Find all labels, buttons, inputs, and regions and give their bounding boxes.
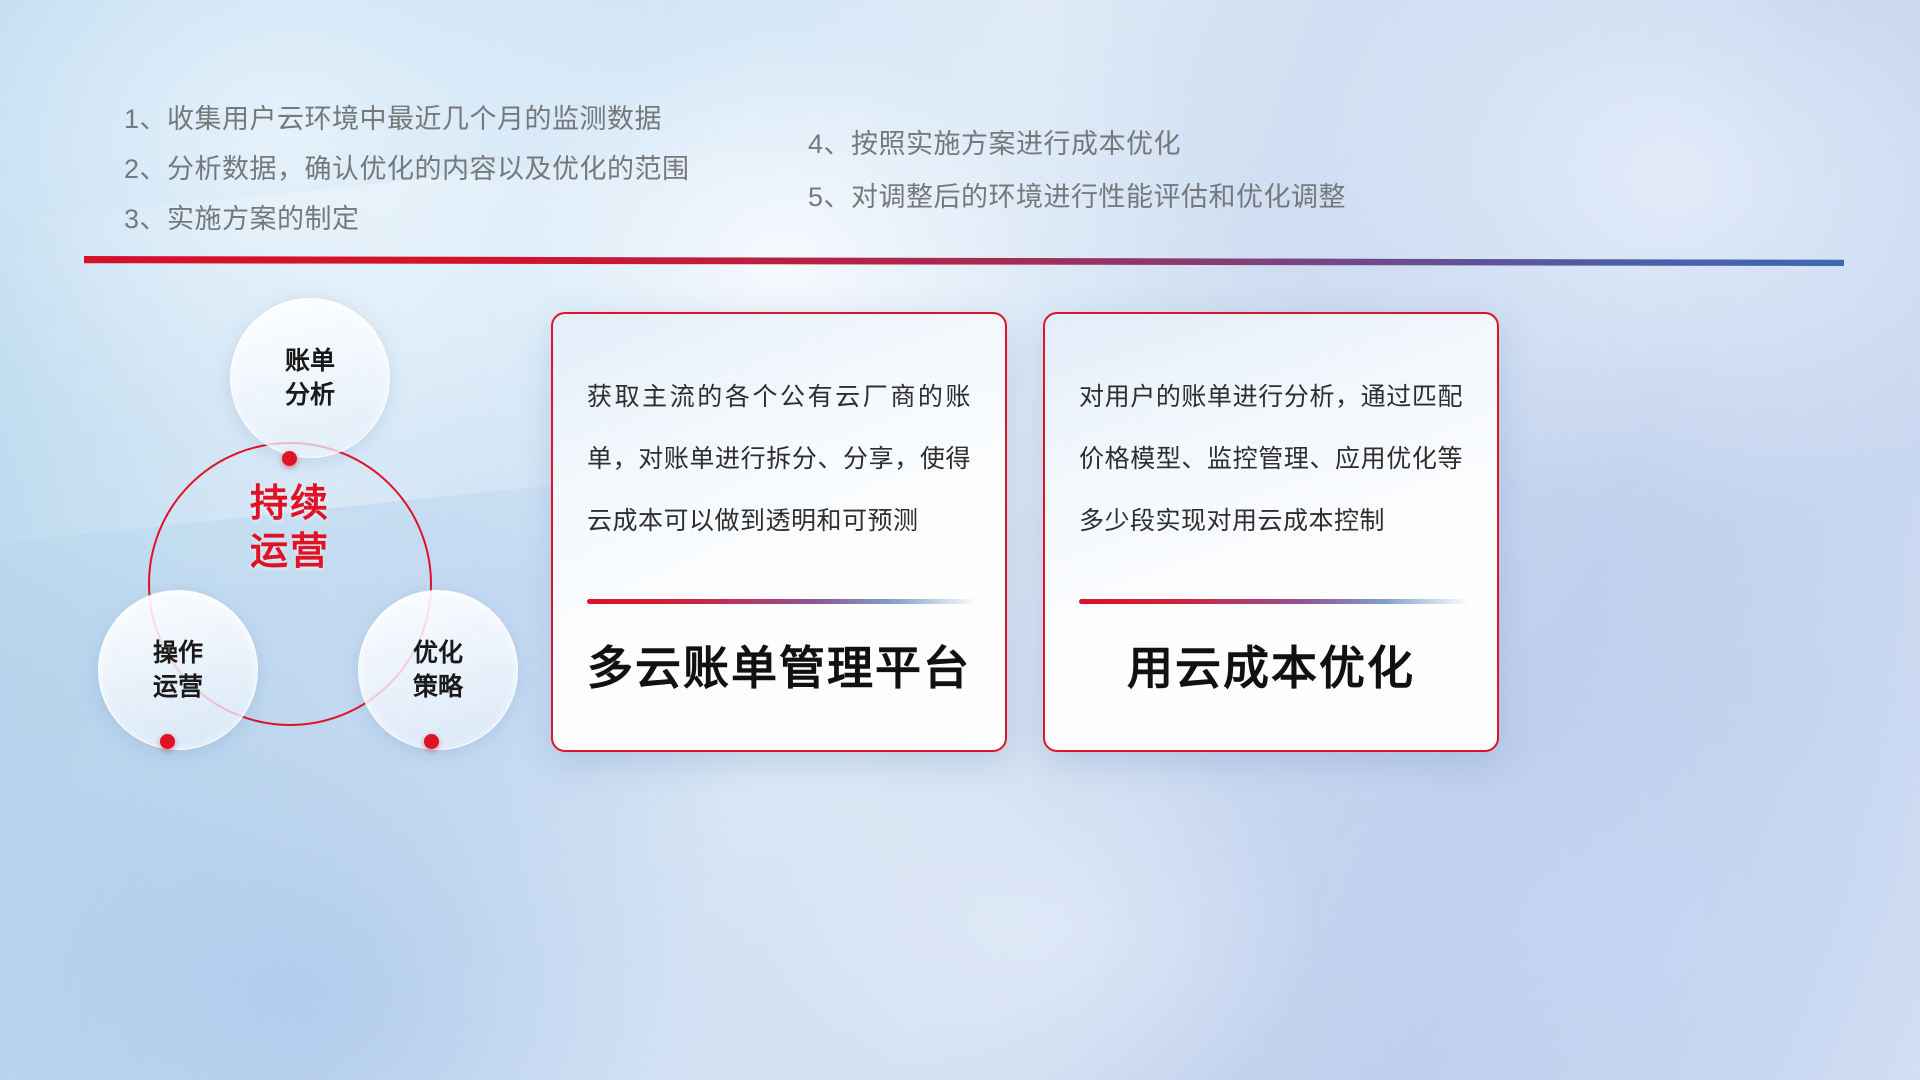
card-title: 用云成本优化 xyxy=(1045,632,1497,698)
cycle-node-label: 优化 策略 xyxy=(413,636,463,704)
step-item-5: 5、对调整后的环境进行性能评估和优化调整 xyxy=(808,171,1346,224)
cycle-dot-left xyxy=(160,734,175,749)
card-accent-rule xyxy=(1079,599,1469,604)
card-accent-rule xyxy=(587,599,977,604)
steps-list-right: 4、按照实施方案进行成本优化 5、对调整后的环境进行性能评估和优化调整 xyxy=(808,118,1346,224)
divider-bar xyxy=(84,256,1844,266)
card-title: 多云账单管理平台 xyxy=(553,632,1005,698)
step-item-3: 3、实施方案的制定 xyxy=(124,194,690,244)
cycle-diagram: 账单 分析 操作 运营 优化 策略 持续 运营 xyxy=(90,290,530,770)
card-body-text: 获取主流的各个公有云厂商的账单，对账单进行拆分、分享，使得云成本可以做到透明和可… xyxy=(587,366,971,552)
cycle-node-billing-analysis[interactable]: 账单 分析 xyxy=(230,298,390,458)
cycle-center-label: 持续 运营 xyxy=(148,480,432,576)
cycle-node-operations[interactable]: 操作 运营 xyxy=(98,590,258,750)
step-item-1: 1、收集用户云环境中最近几个月的监测数据 xyxy=(124,94,690,144)
step-item-4: 4、按照实施方案进行成本优化 xyxy=(808,118,1346,171)
feature-card-cost-optimization[interactable]: 对用户的账单进行分析，通过匹配价格模型、监控管理、应用优化等多少段实现对用云成本… xyxy=(1043,312,1499,752)
cycle-node-optimization-strategy[interactable]: 优化 策略 xyxy=(358,590,518,750)
cycle-node-label: 操作 运营 xyxy=(153,636,203,704)
cycle-dot-right xyxy=(424,734,439,749)
steps-list-left: 1、收集用户云环境中最近几个月的监测数据 2、分析数据，确认优化的内容以及优化的… xyxy=(124,94,690,244)
step-item-2: 2、分析数据，确认优化的内容以及优化的范围 xyxy=(124,144,690,194)
cycle-node-label: 账单 分析 xyxy=(285,344,335,412)
cycle-dot-top xyxy=(282,451,297,466)
feature-card-billing-platform[interactable]: 获取主流的各个公有云厂商的账单，对账单进行拆分、分享，使得云成本可以做到透明和可… xyxy=(551,312,1007,752)
section-divider xyxy=(84,256,1844,266)
card-body-text: 对用户的账单进行分析，通过匹配价格模型、监控管理、应用优化等多少段实现对用云成本… xyxy=(1079,366,1463,552)
